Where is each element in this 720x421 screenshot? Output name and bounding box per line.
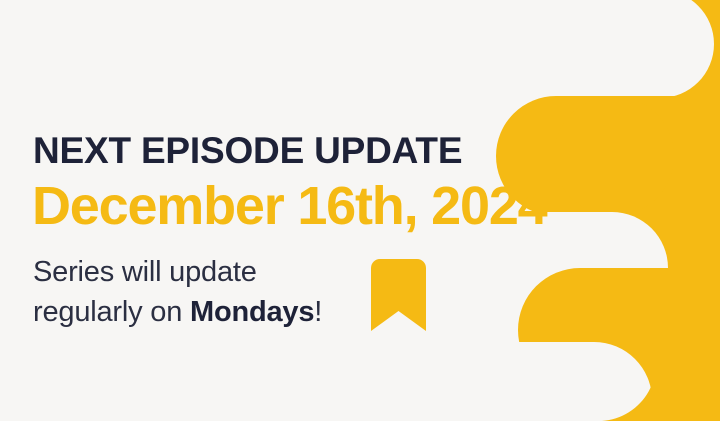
- bookmark-glyph: [371, 259, 426, 331]
- bookmark-icon: [371, 259, 426, 331]
- schedule-note-day: Mondays: [190, 296, 314, 328]
- next-episode-banner: NEXT EPISODE UPDATE December 16th, 2024 …: [0, 0, 720, 421]
- banner-content: NEXT EPISODE UPDATE December 16th, 2024 …: [33, 0, 503, 421]
- schedule-note-suffix: !: [314, 296, 322, 328]
- schedule-note: Series will update regularly on Mondays!: [33, 252, 322, 332]
- schedule-note-line-2: regularly on Mondays!: [33, 292, 322, 332]
- page-title: NEXT EPISODE UPDATE: [33, 131, 462, 171]
- schedule-note-prefix: regularly on: [33, 296, 190, 328]
- schedule-note-line-1: Series will update: [33, 252, 322, 292]
- episode-date: December 16th, 2024: [32, 176, 547, 236]
